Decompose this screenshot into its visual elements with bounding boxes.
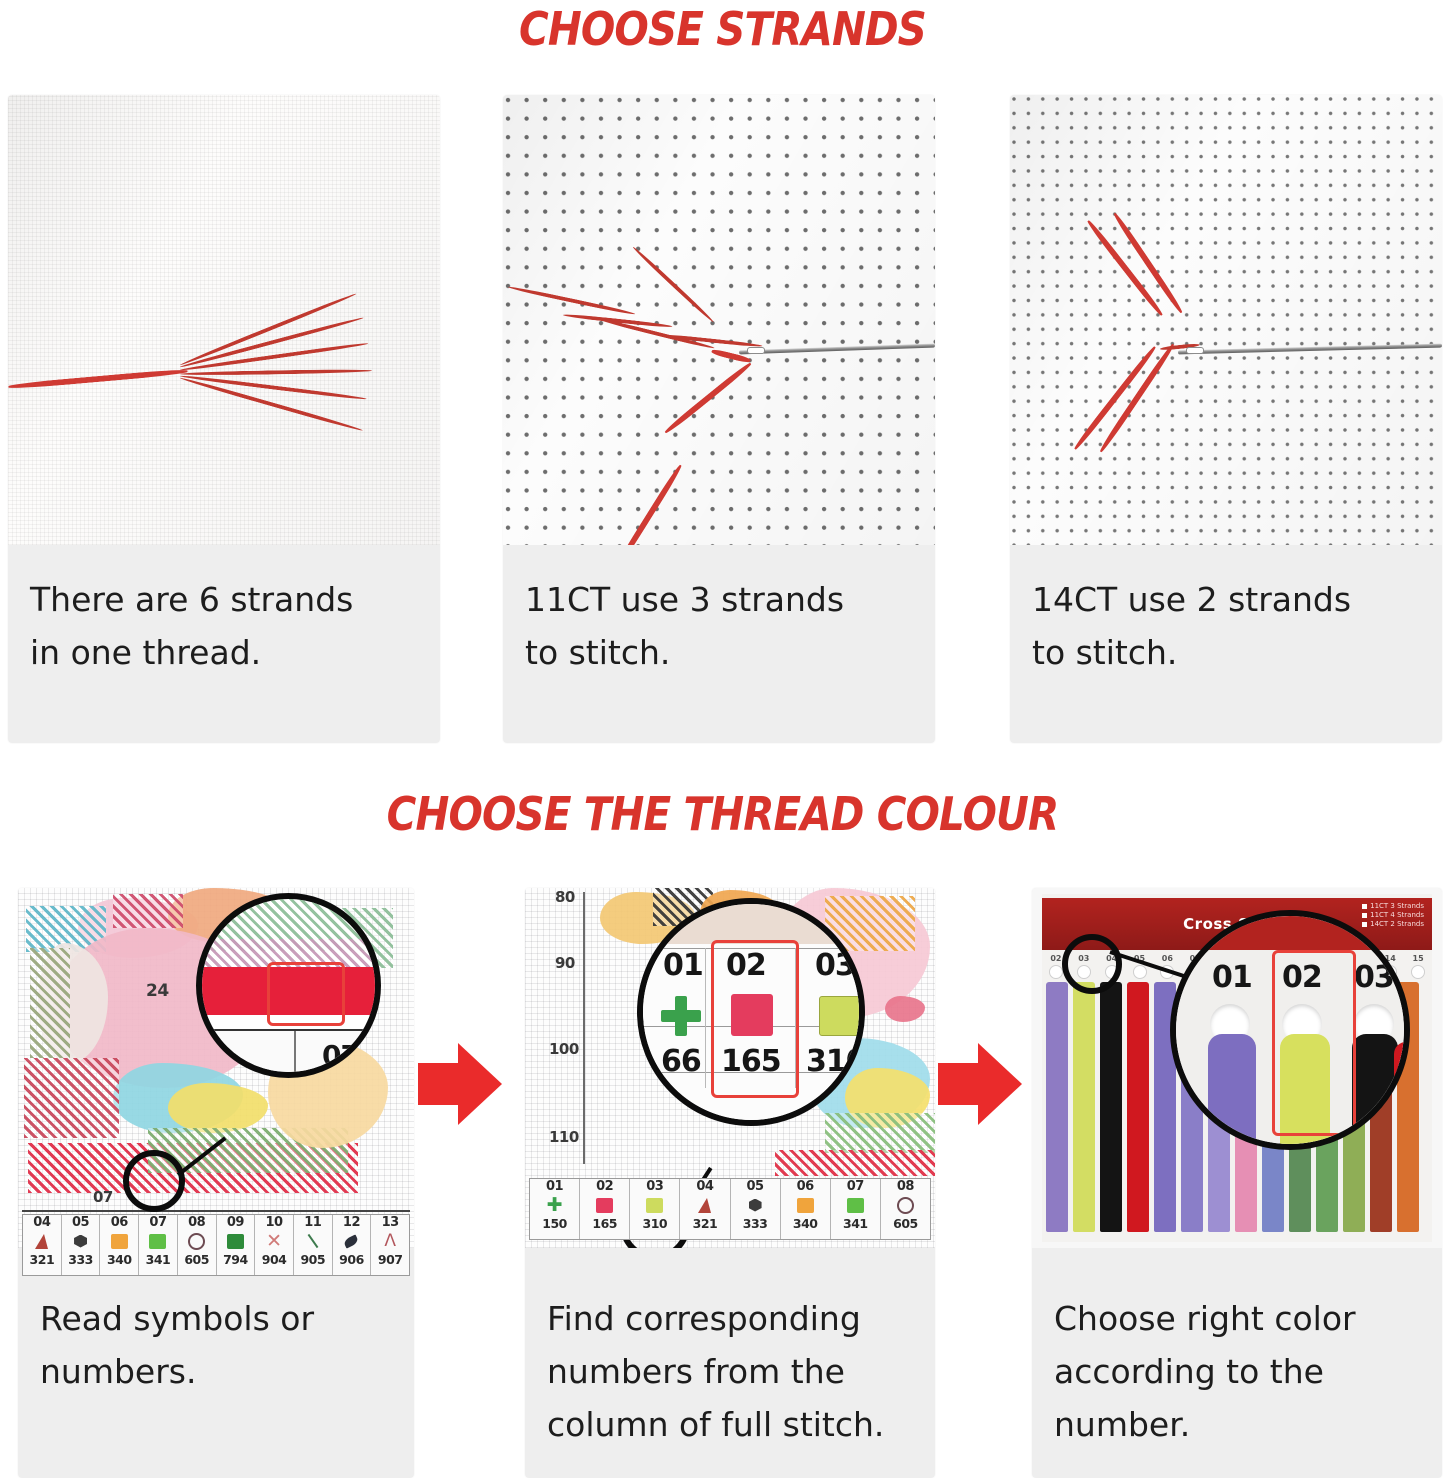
legend-cell[interactable]: 11 905	[294, 1215, 333, 1275]
legend-cell[interactable]: 07 341	[831, 1179, 881, 1239]
legend-code: 310	[643, 1216, 668, 1231]
yellow-square-icon	[646, 1194, 663, 1216]
legend-code: 321	[693, 1216, 718, 1231]
caption-line-2: according to the	[1054, 1345, 1420, 1398]
legend-code: 321	[30, 1252, 55, 1267]
panel-six-strands: There are 6 strands in one thread.	[8, 95, 440, 743]
yellow-square-icon	[819, 996, 863, 1036]
caption-line-2: numbers.	[40, 1345, 392, 1398]
panel-11ct: 11CT use 3 strands to stitch.	[503, 95, 935, 743]
magnifier-column-03: 03	[1354, 960, 1394, 995]
legend-column-number: 03	[646, 1179, 663, 1194]
legend-cell[interactable]: 10 ✕ 904	[255, 1215, 294, 1275]
legend-cell[interactable]: 08 605	[881, 1179, 930, 1239]
magnifier-circle: 01 02 03 66 165 310	[637, 898, 865, 1126]
leaf-icon	[344, 1230, 358, 1252]
needle-eye	[747, 347, 765, 354]
magnifier-target-circle	[1062, 934, 1122, 994]
caption-line-3: column of full stitch.	[547, 1398, 913, 1451]
hole-number: 06	[1162, 954, 1173, 963]
legend-cell[interactable]: 04 321	[23, 1215, 62, 1275]
caption-line-2: in one thread.	[30, 626, 418, 679]
green-square-icon	[847, 1194, 864, 1216]
legend-code: 340	[107, 1252, 132, 1267]
magnifier-code-310: 310	[806, 1044, 865, 1079]
legend-code: 605	[893, 1216, 918, 1231]
legend-code: 333	[743, 1216, 768, 1231]
magnifier-circle: 07	[196, 893, 381, 1078]
symbol-legend: 04 321 05 333 06 340 07 341 08	[22, 1214, 410, 1276]
row-label: 100	[549, 1040, 579, 1058]
photo-11ct	[503, 95, 935, 545]
instruction-infographic: CHOOSE STRANDS There are 6 strands in on…	[0, 0, 1445, 1478]
legend-column-number: 04	[696, 1179, 713, 1194]
row-label: 110	[549, 1128, 579, 1146]
legend-column-number: 08	[188, 1215, 205, 1230]
legend-column-number: 05	[747, 1179, 764, 1194]
panel-read-symbols: 24 07 07 04 321	[18, 888, 414, 1478]
legend-column-number: 13	[382, 1215, 399, 1230]
caption-six-strands: There are 6 strands in one thread.	[8, 573, 440, 679]
legend-cell[interactable]: 06 340	[781, 1179, 831, 1239]
caption-11ct: 11CT use 3 strands to stitch.	[503, 573, 935, 679]
magnifier-code-66: 66	[661, 1044, 701, 1079]
legend-code: 333	[68, 1252, 93, 1267]
caption-line-1: 11CT use 3 strands	[525, 573, 913, 626]
legend-cell[interactable]: 06 340	[100, 1215, 139, 1275]
thread-strands	[503, 95, 935, 545]
magnifier-column-03: 03	[815, 948, 855, 983]
legend-column-number: 05	[72, 1215, 89, 1230]
legend-column-number: 11	[304, 1215, 321, 1230]
legend-code: 906	[339, 1252, 364, 1267]
legend-cell[interactable]: 05 333	[62, 1215, 101, 1275]
hexagon-icon	[749, 1194, 762, 1216]
magnifier-code-07: 07	[322, 1039, 359, 1072]
legend-column-number: 06	[111, 1215, 128, 1230]
legend-code: 907	[378, 1252, 403, 1267]
magnifier-target-circle	[123, 1150, 185, 1212]
legend-column-number: 01	[546, 1179, 563, 1194]
caption-line-1: Read symbols or	[40, 1292, 392, 1345]
green-cross-icon: ✚	[547, 1194, 563, 1216]
green-square-icon	[149, 1230, 166, 1252]
magnifier-column-01: 01	[1212, 960, 1252, 995]
panel-14ct: 14CT use 2 strands to stitch.	[1010, 95, 1442, 743]
thread-hole[interactable]: 15	[1404, 954, 1432, 984]
caption-line-1: Find corresponding	[547, 1292, 913, 1345]
panel-choose-color: Cross Stitch 11CT 3 Strands 11CT 4 Stran…	[1032, 888, 1442, 1478]
highlight-box	[1272, 950, 1356, 1136]
caption-line-2: to stitch.	[525, 626, 913, 679]
hole-icon	[1133, 965, 1147, 979]
caption-choose-color: Choose right color according to the numb…	[1032, 1292, 1442, 1451]
legend-code: 150	[542, 1216, 567, 1231]
legend-code: 605	[184, 1252, 209, 1267]
caption-line-1: 14CT use 2 strands	[1032, 573, 1420, 626]
hole-number: 15	[1413, 954, 1424, 963]
circle-icon	[897, 1194, 914, 1216]
legend-column-number: 12	[343, 1215, 360, 1230]
photo-six-strands	[8, 95, 440, 545]
legend-cell[interactable]: 03 310	[630, 1179, 680, 1239]
skein	[1046, 982, 1068, 1232]
skein	[1127, 982, 1149, 1232]
photo-14ct	[1010, 95, 1442, 545]
x-cross-icon: ✕	[266, 1230, 282, 1252]
caption-line-2: to stitch.	[1032, 626, 1420, 679]
legend-column-number: 08	[897, 1179, 914, 1194]
needle-eye	[1186, 347, 1204, 354]
legend-code: 794	[223, 1252, 248, 1267]
caption-14ct: 14CT use 2 strands to stitch.	[1010, 573, 1442, 679]
legend-column-number: 04	[33, 1215, 50, 1230]
legend-cell[interactable]: 13 Λ 907	[371, 1215, 409, 1275]
symbol-legend: 01 ✚ 150 02 165 03 310 04 321 05	[529, 1178, 931, 1240]
triangle-icon	[35, 1230, 48, 1252]
panel-find-numbers: 80 90 100 110	[525, 888, 935, 1478]
caption-read-symbols: Read symbols or numbers.	[18, 1292, 414, 1398]
legend-code: 905	[300, 1252, 325, 1267]
pink-square-icon	[596, 1194, 613, 1216]
slash-icon	[312, 1230, 314, 1252]
lambda-icon: Λ	[384, 1230, 396, 1252]
magnifier-column-01: 01	[663, 948, 703, 983]
legend-column-number: 10	[266, 1215, 283, 1230]
legend-code: 904	[262, 1252, 287, 1267]
chart-number-24: 24	[146, 981, 169, 1001]
page-title-colour: CHOOSE THE THREAD COLOUR	[87, 785, 1359, 843]
arrow-right-1	[418, 1043, 508, 1125]
arrow-head	[978, 1043, 1022, 1125]
legend-column-number: 06	[797, 1179, 814, 1194]
page-title-strands: CHOOSE STRANDS	[87, 0, 1359, 58]
arrow-head	[458, 1043, 502, 1125]
legend-cell[interactable]: 01 ✚ 150	[530, 1179, 580, 1239]
legend-column-number: 07	[149, 1215, 166, 1230]
caption-line-3: number.	[1054, 1398, 1420, 1451]
chart-vertical-axis	[583, 892, 585, 1164]
legend-code: 165	[592, 1216, 617, 1231]
thread-strands	[1010, 95, 1442, 545]
green-cross-icon	[661, 996, 701, 1036]
legend-code: 341	[843, 1216, 868, 1231]
caption-find-numbers: Find corresponding numbers from the colu…	[525, 1292, 935, 1451]
thread-strands	[8, 95, 440, 545]
photo-pattern-chart: 24 07 07	[18, 888, 414, 1248]
caption-line-1: Choose right color	[1054, 1292, 1420, 1345]
dark-green-square-icon	[227, 1230, 244, 1252]
magnifier-circle: 01 02 03	[1170, 910, 1410, 1150]
legend-cell[interactable]: 07 341	[139, 1215, 178, 1275]
hexagon-icon	[74, 1230, 87, 1252]
caption-line-2: numbers from the	[547, 1345, 913, 1398]
legend-column-number: 09	[227, 1215, 244, 1230]
chart-number-07: 07	[93, 1188, 113, 1206]
highlight-box	[711, 940, 799, 1098]
row-label: 80	[555, 888, 575, 906]
photo-thread-card: Cross Stitch 11CT 3 Strands 11CT 4 Stran…	[1032, 888, 1442, 1248]
legend-cell[interactable]: 09 794	[217, 1215, 256, 1275]
legend-code: 340	[793, 1216, 818, 1231]
orange-square-icon	[111, 1230, 128, 1252]
arrow-right-2	[938, 1043, 1028, 1125]
hole-number: 02	[1050, 954, 1061, 963]
circle-icon	[188, 1230, 205, 1252]
legend-cell[interactable]: 12 906	[333, 1215, 372, 1275]
row-label: 90	[555, 954, 575, 972]
caption-line-1: There are 6 strands	[30, 573, 418, 626]
legend-cell[interactable]: 05 333	[731, 1179, 781, 1239]
legend-cell[interactable]: 08 605	[178, 1215, 217, 1275]
legend-column-number: 02	[596, 1179, 613, 1194]
highlight-box	[267, 962, 345, 1026]
legend-cell[interactable]: 04 321	[680, 1179, 730, 1239]
orange-square-icon	[797, 1194, 814, 1216]
skein-purple	[1208, 1034, 1256, 1150]
triangle-icon	[698, 1194, 711, 1216]
option-label: 11CT 3 Strands	[1370, 902, 1424, 911]
legend-cell[interactable]: 02 165	[580, 1179, 630, 1239]
legend-column-number: 07	[847, 1179, 864, 1194]
skein-black	[1352, 1034, 1398, 1150]
skein	[1073, 982, 1095, 1232]
skein	[1100, 982, 1122, 1232]
hole-icon	[1411, 965, 1425, 979]
legend-code: 341	[146, 1252, 171, 1267]
hole-icon	[1049, 965, 1063, 979]
